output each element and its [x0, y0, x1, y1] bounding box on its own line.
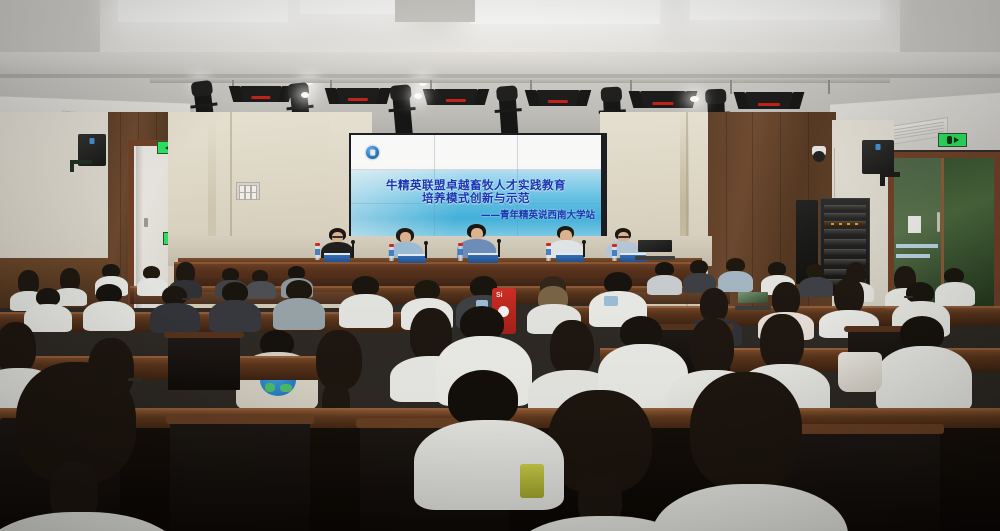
seat-frame [166, 414, 314, 424]
slide-header-band [351, 135, 601, 170]
truss-downlight [414, 93, 422, 99]
tote-bag [838, 352, 882, 392]
presentation-screen[interactable]: 牛精英联盟卓越畜牧人才实践教育 培养模式创新与示范 ——青年精英说西南大学站 [351, 135, 601, 237]
ceiling-light-panel [300, 0, 400, 14]
seat-frame [164, 332, 244, 338]
ceiling-soffit [0, 52, 1000, 76]
door-sticker [896, 254, 930, 258]
camera-conduit [834, 148, 835, 202]
speaker-bracket [880, 172, 885, 186]
security-camera-icon [812, 146, 826, 156]
water-bottle [389, 244, 394, 261]
stage-par-light [240, 86, 282, 102]
microphone [425, 244, 427, 258]
name-card [556, 253, 584, 262]
stage-par-light [434, 89, 478, 105]
stage-par-light [745, 92, 793, 109]
door-handle-left[interactable] [144, 218, 148, 227]
downlight [816, 4, 824, 10]
water-bottle [612, 244, 617, 261]
audience-laptop[interactable] [738, 292, 768, 310]
stage-par-light [536, 90, 580, 106]
microphone [583, 243, 585, 257]
water-bottle [458, 243, 463, 261]
water-bottle [315, 243, 320, 260]
ceiling-light-panel [118, 0, 288, 22]
speaker-bracket [70, 160, 74, 172]
conference-hall-photo: 牛精英联盟卓越畜牧人才实践教育 培养模式创新与示范 ——青年精英说西南大学站 [0, 0, 1000, 531]
truss-downlight [301, 92, 309, 98]
slide-title-line2: 培养模式创新与示范 [351, 192, 601, 205]
slide-subtitle: ——青年精英说西南大学站 [481, 207, 595, 221]
door-notice [908, 216, 921, 233]
truss-rod [730, 80, 732, 94]
name-card [324, 253, 350, 262]
wall-speaker-right [862, 140, 894, 174]
truss-rod [828, 80, 830, 94]
water-bottle [546, 243, 551, 261]
stage-par-light [336, 88, 380, 104]
name-card [398, 254, 426, 263]
wall-control-panel[interactable] [236, 182, 260, 200]
microphone [352, 243, 354, 257]
mobile-phone[interactable] [604, 296, 618, 306]
ceiling-beam [395, 0, 475, 22]
exit-sign-icon [938, 133, 967, 147]
ceiling-light-panel [690, 0, 880, 20]
red-bag-label: Si [496, 292, 510, 299]
presenter-laptop[interactable] [638, 240, 672, 260]
stage-par-light [640, 91, 686, 108]
auditorium-seat[interactable] [170, 420, 310, 531]
ceiling-light-panel [470, 0, 660, 24]
name-card [468, 253, 498, 263]
auditorium-seat[interactable] [168, 336, 240, 390]
yellow-bag [520, 464, 544, 498]
door-sticker [896, 244, 938, 248]
door-handle-right[interactable] [937, 212, 940, 232]
lighting-truss [150, 78, 890, 83]
downlight [635, 2, 643, 8]
organization-logo-icon [366, 146, 379, 159]
slide-title-line1: 牛精英联盟卓越畜牧人才实践教育 [351, 179, 601, 192]
microphone [498, 242, 500, 257]
truss-downlight [690, 96, 699, 102]
